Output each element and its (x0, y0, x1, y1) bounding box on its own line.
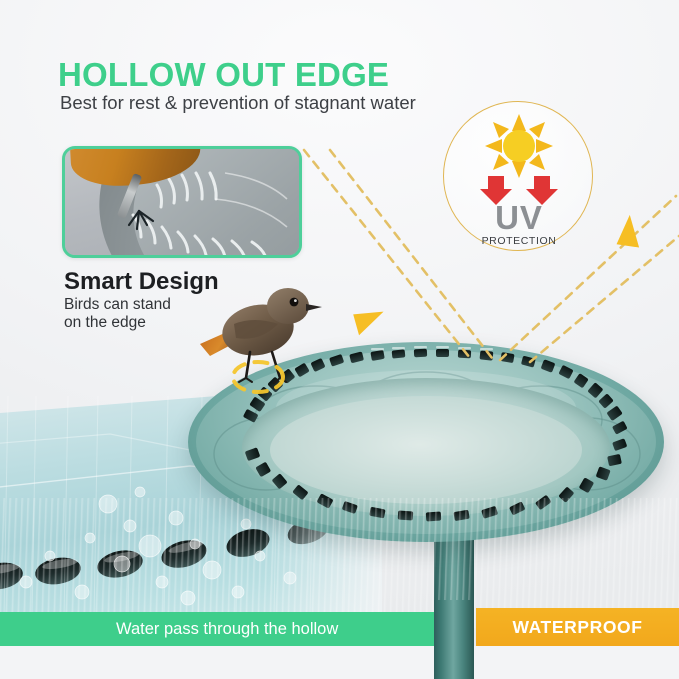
uv-protection-badge: UV PROTECTION (443, 101, 593, 251)
smart-design-body: Birds can stand on the edge (64, 296, 171, 332)
sun-icon (481, 114, 557, 178)
feet-highlight-ring (228, 356, 288, 398)
page-subtitle: Best for rest & prevention of stagnant w… (60, 92, 416, 114)
infographic-canvas: HOLLOW OUT EDGE Best for rest & preventi… (0, 0, 679, 679)
banner-waterproof: WATERPROOF (476, 608, 679, 646)
smart-design-title: Smart Design (64, 268, 219, 296)
banner-water-pass: Water pass through the hollow (0, 612, 446, 646)
page-title: HOLLOW OUT EDGE (58, 56, 389, 94)
banner-waterproof-label: WATERPROOF (512, 617, 642, 638)
inset-bird-claw (123, 209, 157, 233)
smart-design-photo (62, 146, 302, 258)
uv-label: UV (444, 202, 594, 234)
pedestal-foreground (434, 600, 474, 679)
bottom-strip (0, 646, 679, 679)
claw-on-edge-photo (65, 149, 299, 255)
uv-protection-label: PROTECTION (444, 235, 594, 247)
banner-water-pass-label: Water pass through the hollow (116, 620, 338, 639)
